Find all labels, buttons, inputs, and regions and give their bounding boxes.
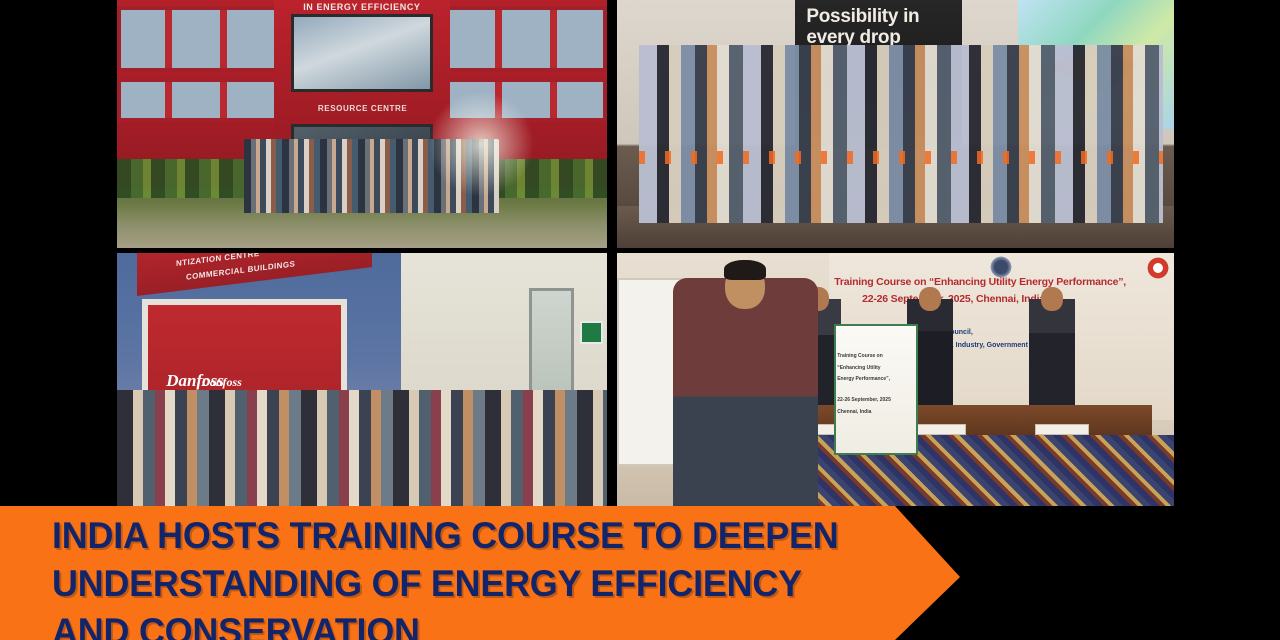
danfoss-logo-secondary: Danfoss bbox=[201, 375, 242, 390]
nameplate-right bbox=[1035, 424, 1089, 435]
participant-group bbox=[639, 45, 1163, 224]
poster-canvas: IN ENERGY EFFICIENCY RESOURCE CENTRE Pos… bbox=[0, 0, 1280, 640]
speaker-figure bbox=[673, 278, 818, 506]
backdrop-dates-venue: 22-26 September, 2025, Chennai, India bbox=[862, 293, 1045, 305]
panelist-center-head bbox=[919, 287, 941, 311]
panelist-right bbox=[1029, 299, 1075, 405]
speaker-hair bbox=[724, 260, 766, 280]
collage-photo-bottom-right: Training Course on “Enhancing Utility En… bbox=[617, 253, 1174, 506]
standee-line2: “Enhancing Utility bbox=[837, 365, 880, 371]
exit-sign-icon bbox=[580, 321, 603, 344]
standee-line5: Chennai, India bbox=[837, 409, 871, 415]
photo-bottom-left-scene: NTIZATION CENTRE COMMERCIAL BUILDINGS Da… bbox=[117, 253, 607, 506]
lanyard-row bbox=[639, 151, 1163, 163]
standee-line3: Energy Performance”, bbox=[837, 376, 890, 382]
facade-main-window bbox=[291, 14, 433, 92]
panelist-right-head bbox=[1041, 287, 1063, 311]
standee-line1: Training Course on bbox=[837, 353, 883, 359]
building-sign-upper: IN ENERGY EFFICIENCY bbox=[303, 2, 420, 12]
page-title: India hosts training course to deepen un… bbox=[52, 512, 886, 640]
photo-top-right-scene: Possibility in every drop bbox=[617, 0, 1174, 248]
photo-bottom-right-scene: Training Course on “Enhancing Utility En… bbox=[617, 253, 1174, 506]
collage-photo-top-right: Possibility in every drop bbox=[617, 0, 1174, 248]
backdrop-title: Training Course on “Enhancing Utility En… bbox=[834, 276, 1126, 288]
touring-delegates bbox=[117, 390, 607, 506]
event-standee: Training Course on “Enhancing Utility En… bbox=[834, 324, 918, 456]
collage-photo-bottom-left: NTIZATION CENTRE COMMERCIAL BUILDINGS Da… bbox=[117, 253, 607, 506]
standee-line4: 22-26 September, 2025 bbox=[837, 397, 891, 403]
lens-flare bbox=[421, 84, 541, 204]
stage-banner-text: Possibility in every drop bbox=[806, 6, 951, 48]
apo-logo-icon bbox=[1146, 256, 1170, 280]
collage-photo-top-left: IN ENERGY EFFICIENCY RESOURCE CENTRE bbox=[117, 0, 607, 248]
building-sign-lower: RESOURCE CENTRE bbox=[318, 104, 407, 113]
photo-top-left-scene: IN ENERGY EFFICIENCY RESOURCE CENTRE bbox=[117, 0, 607, 248]
nameplate-center bbox=[912, 424, 966, 435]
